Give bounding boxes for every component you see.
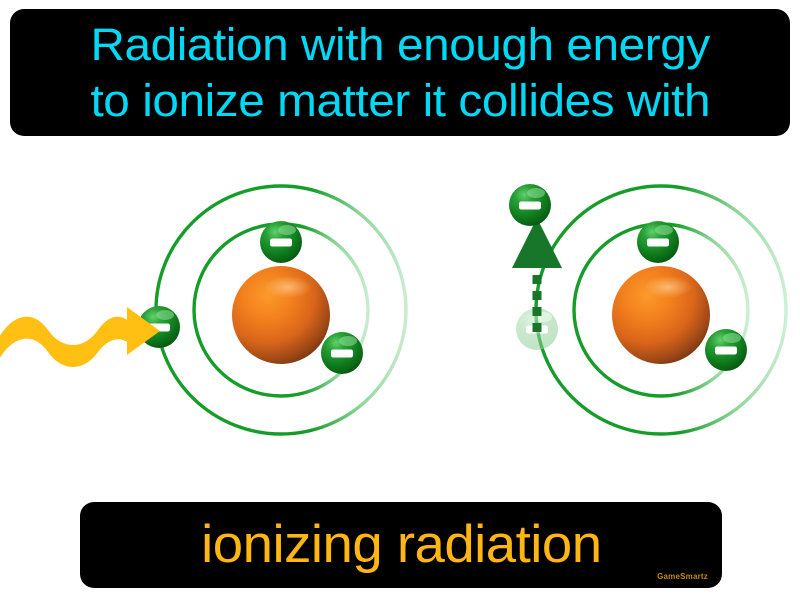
diagram-svg	[0, 150, 800, 500]
left-atom-electron-inner-top	[260, 221, 302, 263]
right-atom-ejected-electron	[509, 184, 551, 226]
definition-line-2: to ionize matter it collides with	[90, 73, 710, 129]
term-banner: ionizing radiation GameSmartz	[80, 502, 722, 588]
term-label: ionizing radiation	[201, 516, 601, 574]
left-atom	[138, 186, 406, 434]
ionizing-radiation-ray	[0, 307, 160, 368]
wavy-arrow-icon	[0, 307, 160, 368]
left-atom-electron-inner-right	[321, 332, 363, 374]
atom-ionization-diagram	[0, 150, 800, 500]
right-atom-nucleus	[612, 266, 710, 364]
electron-ejection-arrow	[512, 218, 562, 332]
slide-canvas: Radiation with enough energy to ionize m…	[0, 0, 800, 600]
right-atom-electron-inner-top	[637, 221, 679, 263]
definition-line-1: Radiation with enough energy	[90, 17, 709, 73]
watermark-label: GameSmartz	[657, 572, 708, 581]
left-atom-nucleus	[232, 266, 330, 364]
right-atom-electron-inner-right	[705, 329, 747, 371]
definition-banner: Radiation with enough energy to ionize m…	[10, 9, 790, 136]
right-atom	[509, 184, 786, 434]
